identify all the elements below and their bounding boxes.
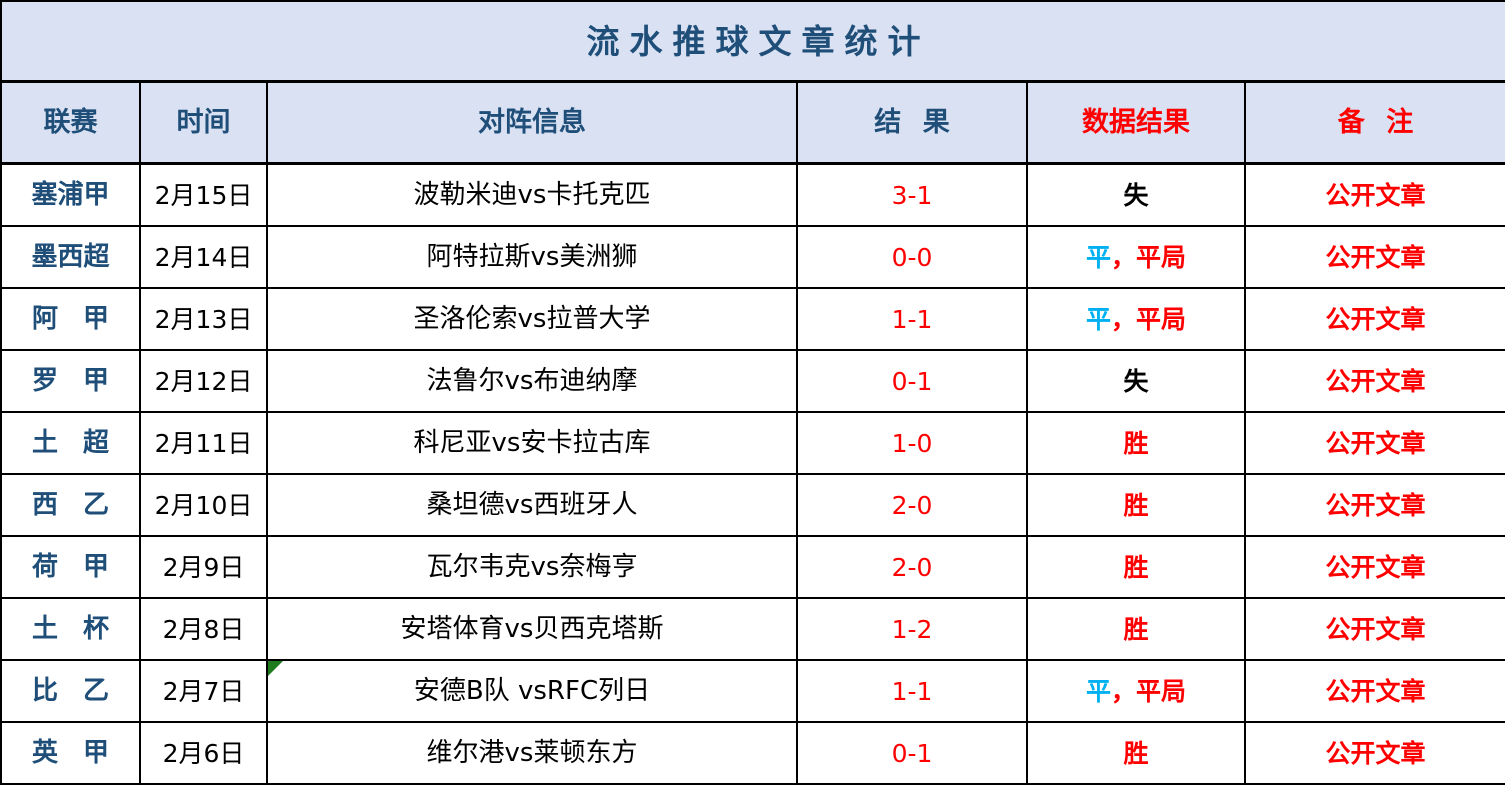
column-header-time-label: 时间 (143, 109, 264, 136)
cell-league[interactable]: 罗 甲 (1, 350, 140, 412)
match-label: 圣洛伦索vs拉普大学 (270, 306, 794, 332)
cell-match-info[interactable]: 科尼亚vs安卡拉古库 (267, 412, 797, 474)
data-result-draw-text: ，平局 (1111, 677, 1186, 706)
cell-date[interactable]: 2月12日 (140, 350, 267, 412)
cell-league[interactable]: 西 乙 (1, 474, 140, 536)
column-header-league-label: 联赛 (4, 109, 137, 136)
column-header-remark-label: 备 注 (1248, 109, 1503, 136)
cell-remark[interactable]: 公开文章 (1245, 288, 1505, 350)
score-label: 2-0 (800, 493, 1024, 518)
cell-date[interactable]: 2月13日 (140, 288, 267, 350)
cell-match-info[interactable]: 桑坦德vs西班牙人 (267, 474, 797, 536)
date-label: 2月13日 (143, 307, 264, 332)
cell-match-info[interactable]: 安塔体育vs贝西克塔斯 (267, 598, 797, 660)
remark-label: 公开文章 (1248, 493, 1503, 518)
column-header-dataresult-label: 数据结果 (1030, 109, 1242, 136)
data-result-label: 平，平局 (1030, 679, 1242, 704)
cell-date[interactable]: 2月14日 (140, 226, 267, 288)
cell-date[interactable]: 2月10日 (140, 474, 267, 536)
league-label: 西 乙 (4, 492, 137, 518)
league-label: 比 乙 (4, 678, 137, 704)
remark-label: 公开文章 (1248, 741, 1503, 766)
data-result-label: 胜 (1030, 741, 1242, 766)
cell-date[interactable]: 2月9日 (140, 536, 267, 598)
cell-remark[interactable]: 公开文章 (1245, 412, 1505, 474)
remark-label: 公开文章 (1248, 555, 1503, 580)
date-label: 2月9日 (143, 555, 264, 580)
cell-match-info[interactable]: 阿特拉斯vs美洲狮 (267, 226, 797, 288)
cell-score[interactable]: 1-0 (797, 412, 1027, 474)
data-result-draw-mark: 平 (1086, 305, 1111, 334)
match-label: 安德B队 vsRFC列日 (270, 678, 794, 704)
table-title-row: 流水推球文章统计 (1, 1, 1505, 82)
score-label: 2-0 (800, 555, 1024, 580)
cell-match-info[interactable]: 法鲁尔vs布迪纳摩 (267, 350, 797, 412)
cell-remark[interactable]: 公开文章 (1245, 722, 1505, 784)
date-label: 2月10日 (143, 493, 264, 518)
match-label: 阿特拉斯vs美洲狮 (270, 244, 794, 270)
league-label: 土 超 (4, 430, 137, 456)
match-label: 维尔港vs莱顿东方 (270, 740, 794, 766)
cell-remark[interactable]: 公开文章 (1245, 164, 1505, 227)
data-result-label: 平，平局 (1030, 245, 1242, 270)
cell-data-result[interactable]: 平，平局 (1027, 288, 1245, 350)
date-label: 2月8日 (143, 617, 264, 642)
cell-remark[interactable]: 公开文章 (1245, 536, 1505, 598)
score-label: 1-1 (800, 679, 1024, 704)
table-row: 墨西超2月14日阿特拉斯vs美洲狮0-0平，平局公开文章 (1, 226, 1505, 288)
cell-data-result[interactable]: 失 (1027, 164, 1245, 227)
cell-remark[interactable]: 公开文章 (1245, 598, 1505, 660)
data-result-draw-mark: 平 (1086, 243, 1111, 272)
match-label: 科尼亚vs安卡拉古库 (270, 430, 794, 456)
cell-match-info[interactable]: 瓦尔韦克vs奈梅亨 (267, 536, 797, 598)
cell-remark[interactable]: 公开文章 (1245, 350, 1505, 412)
cell-data-result[interactable]: 胜 (1027, 474, 1245, 536)
match-label: 瓦尔韦克vs奈梅亨 (270, 554, 794, 580)
date-label: 2月14日 (143, 245, 264, 270)
data-result-draw-text: ，平局 (1111, 305, 1186, 334)
score-label: 3-1 (800, 183, 1024, 208)
cell-remark[interactable]: 公开文章 (1245, 474, 1505, 536)
data-result-draw-mark: 平 (1086, 677, 1111, 706)
cell-score[interactable]: 0-1 (797, 722, 1027, 784)
table-row: 塞浦甲2月15日波勒米迪vs卡托克匹3-1失公开文章 (1, 164, 1505, 227)
remark-label: 公开文章 (1248, 245, 1503, 270)
cell-score[interactable]: 0-0 (797, 226, 1027, 288)
remark-label: 公开文章 (1248, 183, 1503, 208)
cell-data-result[interactable]: 平，平局 (1027, 226, 1245, 288)
cell-score[interactable]: 2-0 (797, 536, 1027, 598)
cell-league[interactable]: 英 甲 (1, 722, 140, 784)
match-label: 桑坦德vs西班牙人 (270, 492, 794, 518)
comment-indicator-icon (268, 661, 283, 676)
column-header-dataresult[interactable]: 数据结果 (1027, 82, 1245, 164)
table-row: 比 乙2月7日安德B队 vsRFC列日1-1平，平局公开文章 (1, 660, 1505, 722)
score-label: 1-0 (800, 431, 1024, 456)
date-label: 2月6日 (143, 741, 264, 766)
data-result-label: 失 (1030, 183, 1242, 208)
column-header-matchinfo-label: 对阵信息 (270, 109, 794, 136)
table-title-cell: 流水推球文章统计 (1, 1, 1505, 82)
column-header-score[interactable]: 结 果 (797, 82, 1027, 164)
cell-league[interactable]: 荷 甲 (1, 536, 140, 598)
remark-label: 公开文章 (1248, 617, 1503, 642)
cell-data-result[interactable]: 胜 (1027, 722, 1245, 784)
data-result-label: 平，平局 (1030, 307, 1242, 332)
table-row: 阿 甲2月13日圣洛伦索vs拉普大学1-1平，平局公开文章 (1, 288, 1505, 350)
league-label: 英 甲 (4, 740, 137, 766)
table-row: 西 乙2月10日桑坦德vs西班牙人2-0胜公开文章 (1, 474, 1505, 536)
date-label: 2月12日 (143, 369, 264, 394)
cell-date[interactable]: 2月6日 (140, 722, 267, 784)
score-label: 0-1 (800, 369, 1024, 394)
cell-date[interactable]: 2月7日 (140, 660, 267, 722)
league-label: 荷 甲 (4, 554, 137, 580)
cell-score[interactable]: 0-1 (797, 350, 1027, 412)
data-result-label: 胜 (1030, 617, 1242, 642)
cell-match-info[interactable]: 圣洛伦索vs拉普大学 (267, 288, 797, 350)
column-header-remark[interactable]: 备 注 (1245, 82, 1505, 164)
table-row: 土 超2月11日科尼亚vs安卡拉古库1-0胜公开文章 (1, 412, 1505, 474)
data-result-draw-text: ，平局 (1111, 243, 1186, 272)
cell-remark[interactable]: 公开文章 (1245, 226, 1505, 288)
cell-score[interactable]: 1-1 (797, 288, 1027, 350)
page-title: 流水推球文章统计 (4, 25, 1503, 58)
cell-remark[interactable]: 公开文章 (1245, 660, 1505, 722)
cell-league[interactable]: 土 杯 (1, 598, 140, 660)
column-header-time[interactable]: 时间 (140, 82, 267, 164)
cell-match-info[interactable]: 安德B队 vsRFC列日 (267, 660, 797, 722)
cell-league[interactable]: 土 超 (1, 412, 140, 474)
column-header-matchinfo[interactable]: 对阵信息 (267, 82, 797, 164)
match-label: 波勒米迪vs卡托克匹 (270, 182, 794, 208)
league-label: 土 杯 (4, 616, 137, 642)
cell-data-result[interactable]: 胜 (1027, 412, 1245, 474)
cell-data-result[interactable]: 失 (1027, 350, 1245, 412)
score-label: 1-2 (800, 617, 1024, 642)
score-label: 1-1 (800, 307, 1024, 332)
remark-label: 公开文章 (1248, 307, 1503, 332)
date-label: 2月7日 (143, 679, 264, 704)
table-row: 英 甲2月6日维尔港vs莱顿东方0-1胜公开文章 (1, 722, 1505, 784)
cell-score[interactable]: 1-2 (797, 598, 1027, 660)
league-label: 塞浦甲 (4, 182, 137, 208)
table-header-row: 联赛 时间 对阵信息 结 果 数据结果 备 注 (1, 82, 1505, 164)
cell-data-result[interactable]: 胜 (1027, 598, 1245, 660)
cell-league[interactable]: 墨西超 (1, 226, 140, 288)
cell-league[interactable]: 塞浦甲 (1, 164, 140, 227)
remark-label: 公开文章 (1248, 369, 1503, 394)
data-result-label: 胜 (1030, 555, 1242, 580)
league-label: 阿 甲 (4, 306, 137, 332)
spreadsheet-sheet: 流水推球文章统计 联赛 时间 对阵信息 结 果 数据结果 (0, 0, 1505, 755)
cell-match-info[interactable]: 波勒米迪vs卡托克匹 (267, 164, 797, 227)
cell-score[interactable]: 3-1 (797, 164, 1027, 227)
data-result-label: 胜 (1030, 493, 1242, 518)
remark-label: 公开文章 (1248, 431, 1503, 456)
cell-date[interactable]: 2月11日 (140, 412, 267, 474)
cell-league[interactable]: 阿 甲 (1, 288, 140, 350)
table-row: 荷 甲2月9日瓦尔韦克vs奈梅亨2-0胜公开文章 (1, 536, 1505, 598)
column-header-score-label: 结 果 (800, 109, 1024, 136)
statistics-table: 流水推球文章统计 联赛 时间 对阵信息 结 果 数据结果 (0, 0, 1505, 785)
league-label: 罗 甲 (4, 368, 137, 394)
cell-league[interactable]: 比 乙 (1, 660, 140, 722)
cell-date[interactable]: 2月8日 (140, 598, 267, 660)
match-label: 法鲁尔vs布迪纳摩 (270, 368, 794, 394)
table-row: 罗 甲2月12日法鲁尔vs布迪纳摩0-1失公开文章 (1, 350, 1505, 412)
cell-date[interactable]: 2月15日 (140, 164, 267, 227)
cell-score[interactable]: 2-0 (797, 474, 1027, 536)
table-row: 土 杯2月8日安塔体育vs贝西克塔斯1-2胜公开文章 (1, 598, 1505, 660)
score-label: 0-1 (800, 741, 1024, 766)
cell-data-result[interactable]: 平，平局 (1027, 660, 1245, 722)
column-header-league[interactable]: 联赛 (1, 82, 140, 164)
cell-data-result[interactable]: 胜 (1027, 536, 1245, 598)
date-label: 2月11日 (143, 431, 264, 456)
cell-score[interactable]: 1-1 (797, 660, 1027, 722)
data-result-label: 胜 (1030, 431, 1242, 456)
date-label: 2月15日 (143, 183, 264, 208)
cell-match-info[interactable]: 维尔港vs莱顿东方 (267, 722, 797, 784)
score-label: 0-0 (800, 245, 1024, 270)
remark-label: 公开文章 (1248, 679, 1503, 704)
league-label: 墨西超 (4, 244, 137, 270)
data-result-label: 失 (1030, 369, 1242, 394)
match-label: 安塔体育vs贝西克塔斯 (270, 616, 794, 642)
